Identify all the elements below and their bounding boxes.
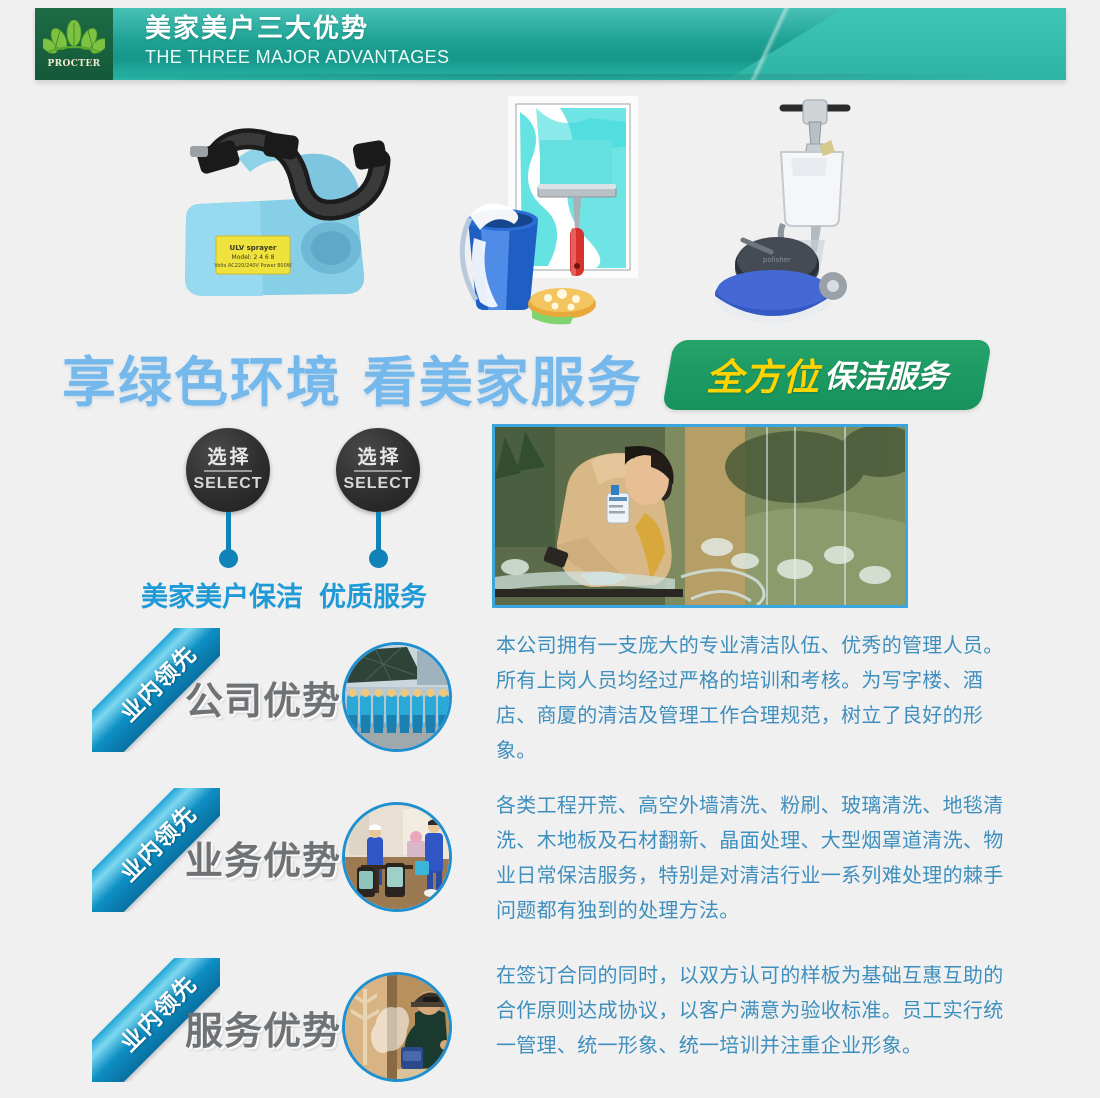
- leaf-crown-icon: [43, 20, 105, 62]
- select-pin-2[interactable]: 选择 SELECT: [336, 428, 420, 568]
- select-pin-circle: 选择 SELECT: [336, 428, 420, 512]
- select-pin-label-cn: 选择: [354, 447, 401, 472]
- service-badge-rest: 保洁服务: [824, 351, 948, 396]
- advantage-description: 在签订合同的同时，以双方认可的样板为基础互惠互助的合作原则达成协议，以客户满意为…: [496, 958, 1012, 1063]
- svg-text:Model: 2 4 6 8: Model: 2 4 6 8: [232, 254, 275, 261]
- select-pin-circle: 选择 SELECT: [186, 428, 270, 512]
- page-headline: 享绿色环境 看美家服务: [62, 338, 643, 417]
- banner-title-group: 美家美户三大优势 THE THREE MAJOR ADVANTAGES: [145, 14, 449, 69]
- advantage-row-3: 业内领先 服务优势: [0, 958, 1100, 1098]
- staff-team-lineup-photo: [342, 642, 452, 752]
- advantage-description: 各类工程开荒、高空外墙清洗、粉刷、玻璃清洗、地毯清洗、木地板及石材翻新、晶面处理…: [496, 788, 1012, 928]
- select-pin-label-cn: 选择: [204, 447, 251, 472]
- svg-text:ULV sprayer: ULV sprayer: [230, 244, 277, 252]
- advantage-title: 服务优势: [185, 1000, 341, 1055]
- workers-cleaning-restaurant-graphic: [345, 805, 452, 912]
- select-pin-dot: [369, 549, 388, 568]
- banner-title-cn: 美家美户三大优势: [145, 14, 449, 45]
- service-badge-highlight: 全方位: [706, 347, 820, 401]
- select-pin-stem: [376, 512, 381, 550]
- brand-logo: PROCTER: [35, 8, 113, 80]
- banner-background: PROCTER 美家美户三大优势 THE THREE MAJOR ADVANTA…: [35, 8, 1066, 80]
- select-pin-2-caption: 优质服务: [319, 575, 427, 614]
- advantage-title: 业务优势: [185, 830, 341, 885]
- worker-spraying-wall-graphic: [345, 975, 452, 1082]
- brand-logo-text: PROCTER: [47, 59, 100, 69]
- worker-cleaning-photo-graphic: [495, 427, 905, 605]
- advantage-description: 本公司拥有一支庞大的专业清洁队伍、优秀的管理人员。所有上岗人员均经过严格的培训和…: [496, 628, 1012, 768]
- product-image-row: ULV sprayer Model: 2 4 6 8 Volts AC220/2…: [0, 88, 1100, 338]
- select-pin-label-en: SELECT: [343, 474, 412, 493]
- svg-text:Volts AC220/240V Power 800W: Volts AC220/240V Power 800W: [214, 263, 291, 269]
- select-pin-stem: [226, 512, 231, 550]
- advantage-title: 公司优势: [185, 670, 341, 725]
- worker-cleaning-photo: [492, 424, 908, 608]
- select-pin-1-caption: 美家美户保洁: [141, 575, 303, 614]
- svg-text:polisher: polisher: [763, 256, 791, 264]
- banner-drop-shadow: [60, 74, 1020, 84]
- select-pin-dot: [219, 549, 238, 568]
- worker-spraying-wall-photo: [342, 972, 452, 1082]
- advantage-row-1: 业内领先 公司优势: [0, 628, 1100, 768]
- service-badge: 全方位 保洁服务: [662, 340, 992, 410]
- floor-polisher-image: polisher: [715, 90, 915, 330]
- workers-cleaning-restaurant-photo: [342, 802, 452, 912]
- window-cleaning-kit-image: [440, 88, 685, 333]
- header-banner: PROCTER 美家美户三大优势 THE THREE MAJOR ADVANTA…: [35, 8, 1066, 80]
- staff-team-lineup-graphic: [345, 645, 452, 752]
- advantage-row-2: 业内领先 业务优势: [0, 788, 1100, 928]
- ulv-sprayer-image: ULV sprayer Model: 2 4 6 8 Volts AC220/2…: [168, 98, 398, 313]
- select-pin-1[interactable]: 选择 SELECT: [186, 428, 270, 568]
- banner-diagonal-edge: [706, 8, 836, 80]
- banner-title-en: THE THREE MAJOR ADVANTAGES: [145, 45, 449, 69]
- select-pin-label-en: SELECT: [193, 474, 262, 493]
